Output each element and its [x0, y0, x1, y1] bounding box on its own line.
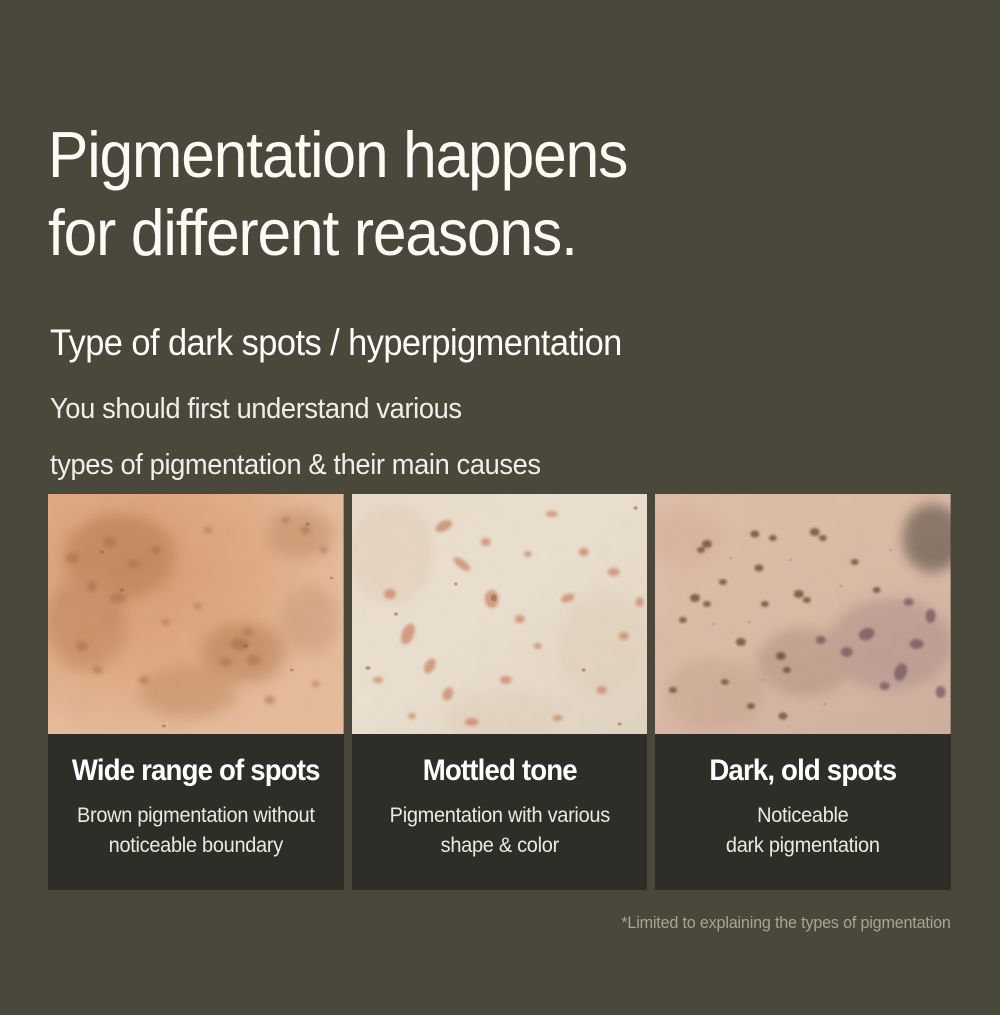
skin-dark-old-spots-photo	[655, 494, 951, 734]
card-description-line-2: shape & color	[359, 831, 640, 861]
pigmentation-type-card-row: Wide range of spots Brown pigmentation w…	[48, 494, 951, 890]
card-caption-wide-range-of-spots: Wide range of spots Brown pigmentation w…	[48, 734, 344, 890]
pigmentation-infographic: { "theme": { "background": "#4a473b", "c…	[0, 0, 1000, 1015]
pigmentation-card-dark-old-spots: Dark, old spots Noticeable dark pigmenta…	[655, 494, 951, 890]
page-subheading: Type of dark spots / hyperpigmentation	[50, 321, 622, 365]
skin-mottled-tone-photo	[352, 494, 648, 734]
card-description-line-1: Pigmentation with various	[359, 801, 640, 831]
card-description: Brown pigmentation without noticeable bo…	[55, 801, 336, 861]
card-title: Wide range of spots	[60, 754, 332, 788]
card-description-line-1: Noticeable	[663, 801, 944, 831]
card-description: Noticeable dark pigmentation	[663, 801, 944, 861]
card-caption-dark-old-spots: Dark, old spots Noticeable dark pigmenta…	[655, 734, 951, 890]
card-description-line-1: Brown pigmentation without	[55, 801, 336, 831]
headline-line-2: for different reasons.	[48, 194, 755, 272]
pigmentation-card-mottled-tone: Mottled tone Pigmentation with various s…	[352, 494, 648, 890]
pigmentation-card-wide-range-of-spots: Wide range of spots Brown pigmentation w…	[48, 494, 344, 890]
card-title: Dark, old spots	[667, 754, 939, 788]
card-title: Mottled tone	[363, 754, 635, 788]
card-description-line-2: dark pigmentation	[663, 831, 944, 861]
card-description: Pigmentation with various shape & color	[359, 801, 640, 861]
card-description-line-2: noticeable boundary	[55, 831, 336, 861]
body-line-2: types of pigmentation & their main cause…	[50, 437, 541, 493]
page-headline: Pigmentation happens for different reaso…	[48, 116, 755, 272]
headline-line-1: Pigmentation happens	[48, 116, 755, 194]
skin-wide-range-of-spots-photo	[48, 494, 344, 734]
footnote-disclaimer: *Limited to explaining the types of pigm…	[622, 913, 951, 933]
page-body-copy: You should first understand various type…	[50, 381, 541, 493]
card-caption-mottled-tone: Mottled tone Pigmentation with various s…	[352, 734, 648, 890]
body-line-1: You should first understand various	[50, 381, 541, 437]
